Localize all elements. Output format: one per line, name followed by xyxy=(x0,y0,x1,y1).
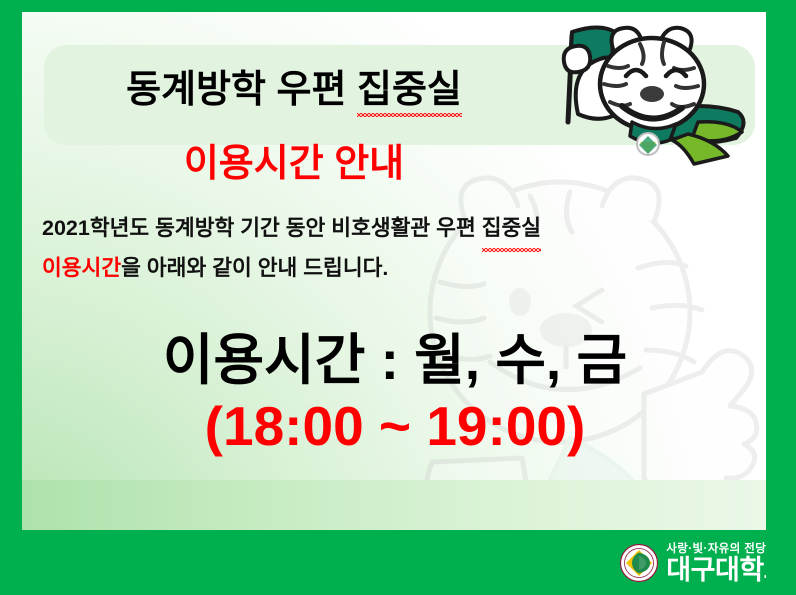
body-highlight: 이용시간 xyxy=(42,256,121,280)
page-title-line1: 동계방학 우편 집중실 xyxy=(44,58,544,113)
body-paragraph: 2021학년도 동계방학 기간 동안 비호생활관 우편 집중실 이용시간을 아래… xyxy=(42,208,762,288)
poster-canvas: 동계방학 우편 집중실 이용시간 안내 xyxy=(22,12,766,595)
body-text-a: 2021학년도 동계방학 기간 동안 비호생활관 우편 xyxy=(42,216,482,240)
logo-university-name: 대구대학교 xyxy=(666,556,788,585)
body-line-1: 2021학년도 동계방학 기간 동안 비호생활관 우편 집중실 xyxy=(42,208,762,248)
hero-line-hours: (18:00 ~ 19:00) xyxy=(22,393,766,459)
logo-text-block: 사랑·빛·자유의 전당 대구대학교 xyxy=(666,542,788,585)
body-text-b: 을 아래와 같이 안내 드립니다. xyxy=(121,256,388,280)
poster-notice: 동계방학 우편 집중실 이용시간 안내 xyxy=(0,0,796,595)
hero-message: 이용시간 : 월, 수, 금 (18:00 ~ 19:00) xyxy=(22,327,766,459)
footer-bar: 사랑·빛·자유의 전당 대구대학교 xyxy=(0,530,796,595)
university-logo: 사랑·빛·자유의 전당 대구대학교 xyxy=(619,537,788,589)
page-title-line2: 이용시간 안내 xyxy=(44,132,544,187)
body-line-2: 이용시간을 아래와 같이 안내 드립니다. xyxy=(42,248,762,288)
hero-line-days: 이용시간 : 월, 수, 금 xyxy=(22,327,766,393)
title-misspelled-word: 집중실 xyxy=(357,58,462,113)
logo-tagline: 사랑·빛·자유의 전당 xyxy=(666,542,788,556)
body-misspelled-word: 집중실 xyxy=(482,208,541,248)
university-seal-icon xyxy=(619,543,659,583)
title-text-a: 동계방학 우편 xyxy=(126,69,357,111)
